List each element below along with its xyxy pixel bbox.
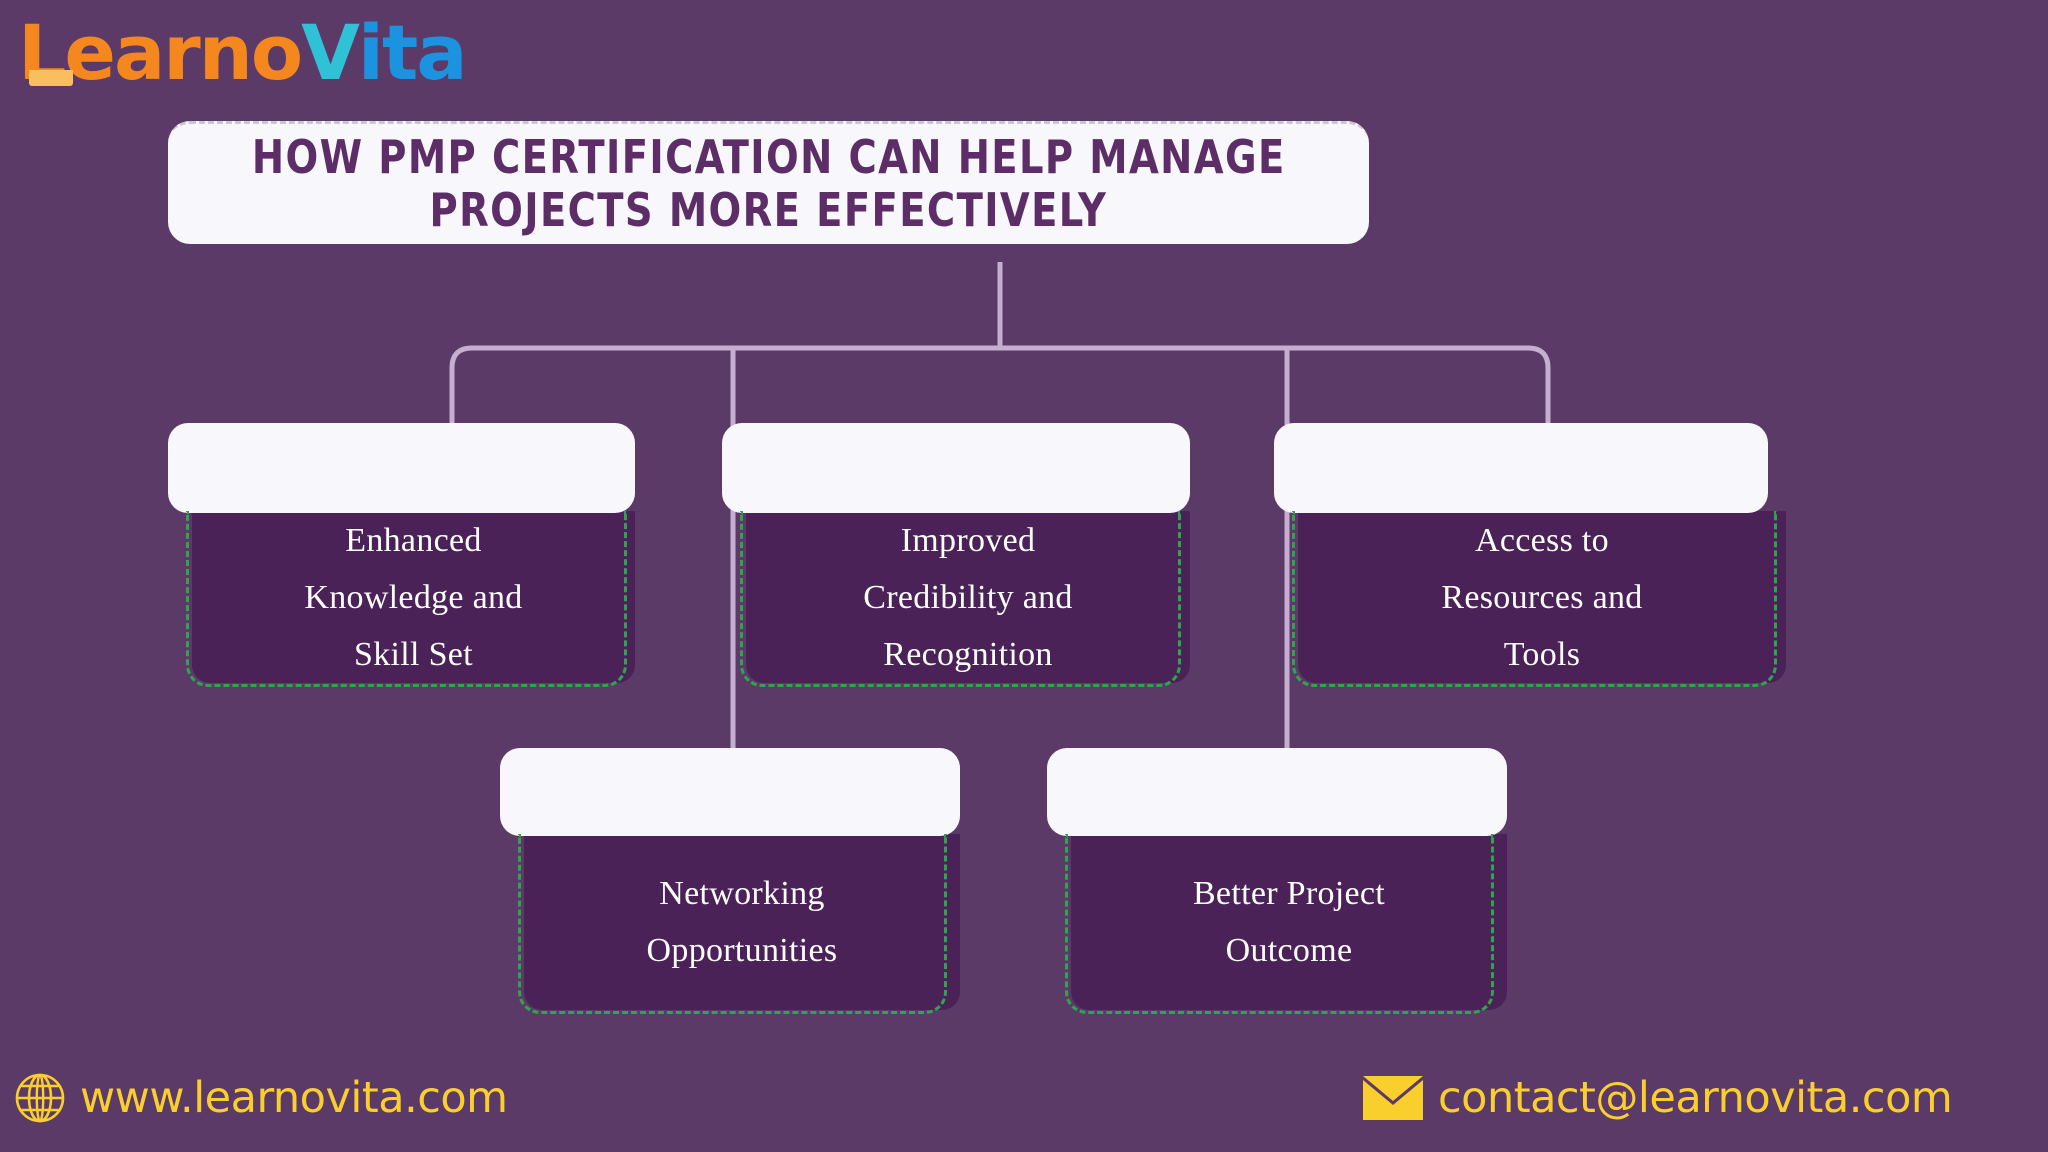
card-access-to-resources-and-tools[interactable]: Access to Resources and Tools — [1274, 423, 1786, 683]
card-top-panel — [500, 748, 960, 836]
footer-email-text: contact@learnovita.com — [1438, 1075, 1952, 1121]
learnovita-logo: LearnoVita — [18, 8, 466, 98]
card-top-panel — [1047, 748, 1507, 836]
card-body: Improved Credibility and Recognition — [746, 511, 1190, 683]
infographic-canvas: LearnoVita HOW PMP CERTIFICATION CAN HEL… — [0, 0, 2048, 1152]
logo-l-accent — [29, 70, 73, 86]
logo-text-v: V — [301, 15, 358, 91]
globe-icon — [14, 1072, 66, 1124]
card-label: Enhanced Knowledge and Skill Set — [290, 512, 536, 683]
card-better-project-outcome[interactable]: Better Project Outcome — [1047, 748, 1507, 1010]
page-title-line2: PROJECTS MORE EFFECTIVELY — [430, 184, 1108, 237]
card-top-panel — [722, 423, 1190, 513]
card-label: Better Project Outcome — [1179, 865, 1399, 979]
card-enhanced-knowledge-and-skill-set[interactable]: Enhanced Knowledge and Skill Set — [168, 423, 635, 683]
footer-email[interactable]: contact@learnovita.com — [1362, 1068, 2030, 1128]
card-top-panel — [1274, 423, 1768, 513]
envelope-icon — [1362, 1074, 1424, 1122]
logo-text-ita: ita — [358, 15, 466, 91]
card-label: Networking Opportunities — [633, 865, 852, 979]
page-title: HOW PMP CERTIFICATION CAN HELP MANAGE PR… — [168, 121, 1369, 244]
footer-website[interactable]: www.learnovita.com — [14, 1068, 508, 1128]
page-title-line1: HOW PMP CERTIFICATION CAN HELP MANAGE — [252, 131, 1286, 184]
card-label: Access to Resources and Tools — [1427, 512, 1656, 683]
card-body: Better Project Outcome — [1071, 834, 1507, 1010]
card-networking-opportunities[interactable]: Networking Opportunities — [500, 748, 960, 1010]
card-top-panel — [168, 423, 635, 513]
card-body: Enhanced Knowledge and Skill Set — [192, 511, 635, 683]
card-body: Access to Resources and Tools — [1298, 511, 1786, 683]
card-label: Improved Credibility and Recognition — [849, 512, 1086, 683]
card-improved-credibility-and-recognition[interactable]: Improved Credibility and Recognition — [722, 423, 1190, 683]
card-body: Networking Opportunities — [524, 834, 960, 1010]
footer-website-text: www.learnovita.com — [80, 1075, 508, 1121]
